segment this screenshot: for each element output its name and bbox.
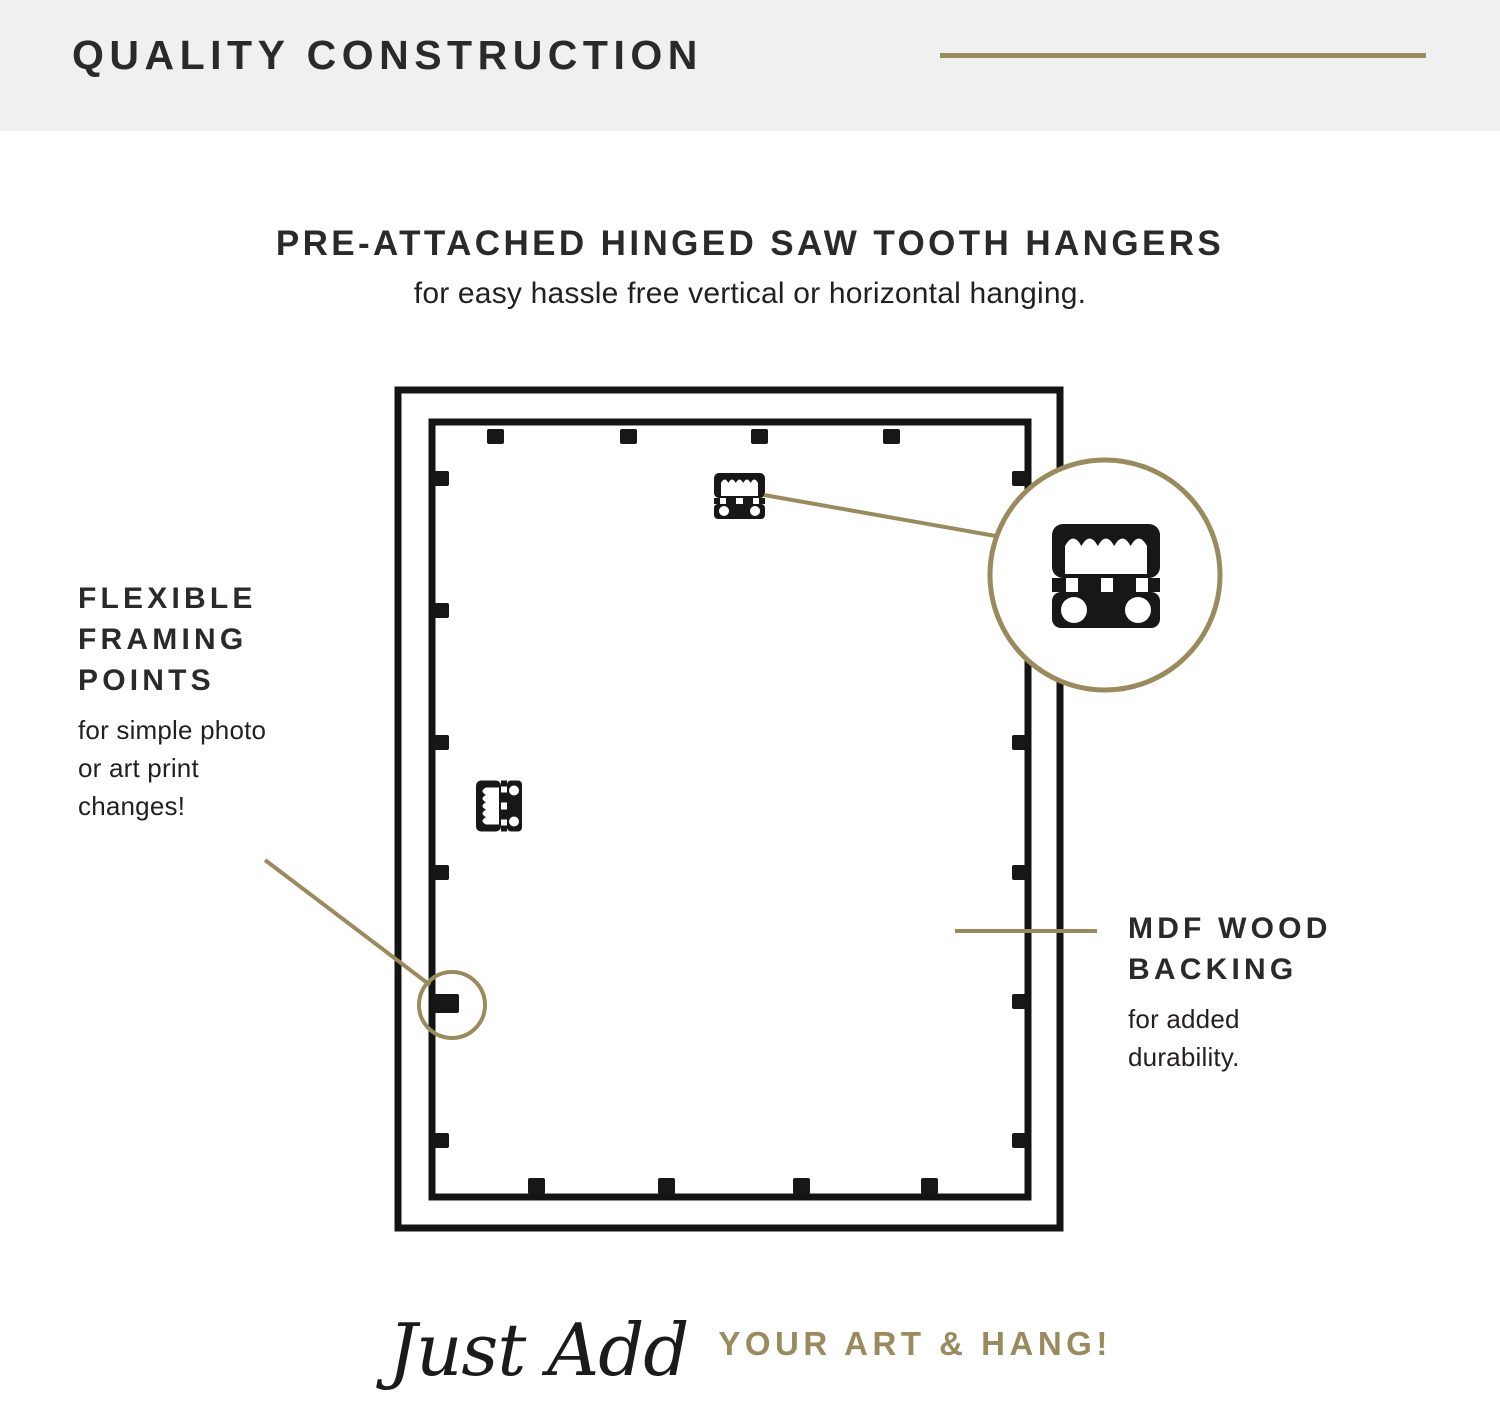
framing-point-tab-icon — [433, 471, 449, 486]
framing-point-tab-icon — [1012, 994, 1028, 1009]
sawtooth-hanger-icon-magnified — [1052, 524, 1160, 628]
framing-point-tab-icon — [528, 1178, 545, 1194]
framing-point-tab-icon — [751, 429, 768, 444]
framing-point-tab-icon — [1012, 865, 1028, 880]
footer-script-text: Just Add — [388, 1308, 688, 1392]
footer-caps-text: YOUR ART & HANG! — [718, 1325, 1111, 1362]
leader-line-framing-point — [265, 860, 430, 985]
framing-point-tab-icon — [433, 1133, 449, 1148]
framing-point-tab-icon — [1012, 471, 1028, 486]
framing-point-tab-icon — [921, 1178, 938, 1194]
framing-points-top — [487, 429, 900, 444]
framing-point-tab-icon — [1012, 735, 1028, 750]
framing-points-bottom — [528, 1178, 938, 1194]
framing-point-tab-icon — [433, 603, 449, 618]
framing-point-tab-icon — [793, 1178, 810, 1194]
frame-back-diagram — [0, 0, 1500, 1411]
footer-tagline: Just AddYOUR ART & HANG! — [0, 1302, 1500, 1386]
leader-line-hanger — [764, 495, 1007, 538]
framing-point-tab-icon — [620, 429, 637, 444]
framing-point-tab-icon — [433, 735, 449, 750]
framing-point-tab-icon — [658, 1178, 675, 1194]
sawtooth-hanger-icon-side — [476, 781, 522, 832]
framing-point-tab-icon — [1012, 1133, 1028, 1148]
framing-point-tab-icon — [487, 429, 504, 444]
framing-point-tab-icon — [883, 429, 900, 444]
framing-point-tab-icon — [433, 865, 449, 880]
framing-points-left — [433, 471, 459, 1148]
framing-point-tab-icon-highlighted — [433, 994, 459, 1013]
sawtooth-hanger-icon-top — [714, 473, 765, 519]
